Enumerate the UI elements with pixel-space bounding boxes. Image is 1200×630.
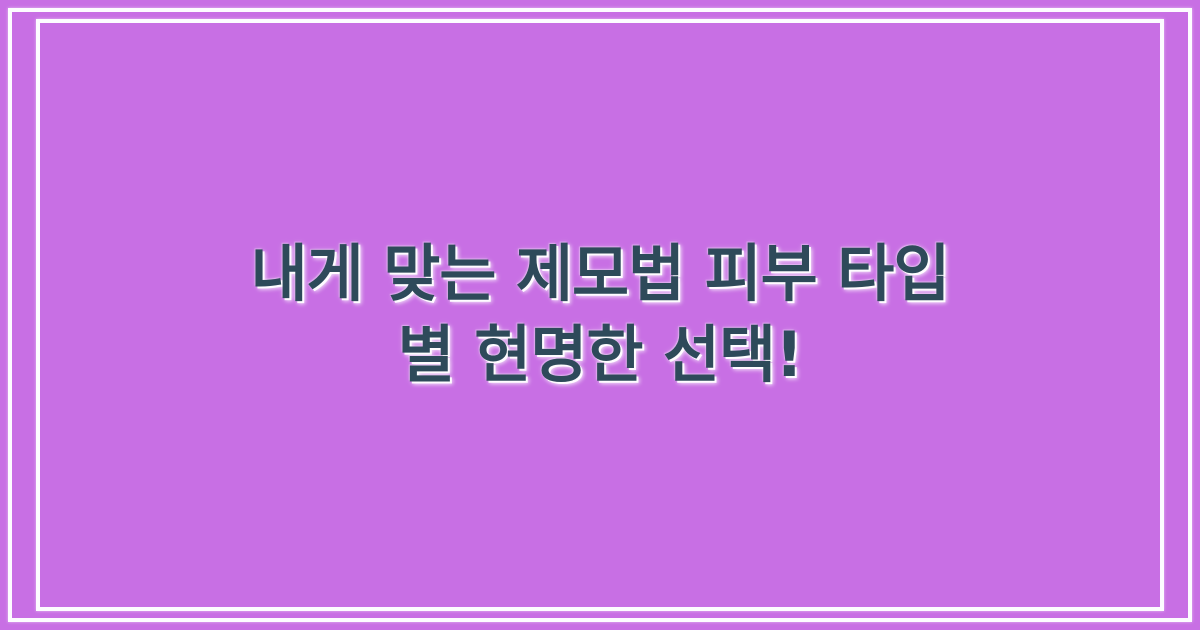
og-card: 내게 맞는 제모법 피부 타입별 현명한 선택! — [0, 0, 1200, 630]
headline-container: 내게 맞는 제모법 피부 타입별 현명한 선택! — [0, 0, 1200, 630]
page-title: 내게 맞는 제모법 피부 타입별 현명한 선택! — [240, 234, 960, 395]
